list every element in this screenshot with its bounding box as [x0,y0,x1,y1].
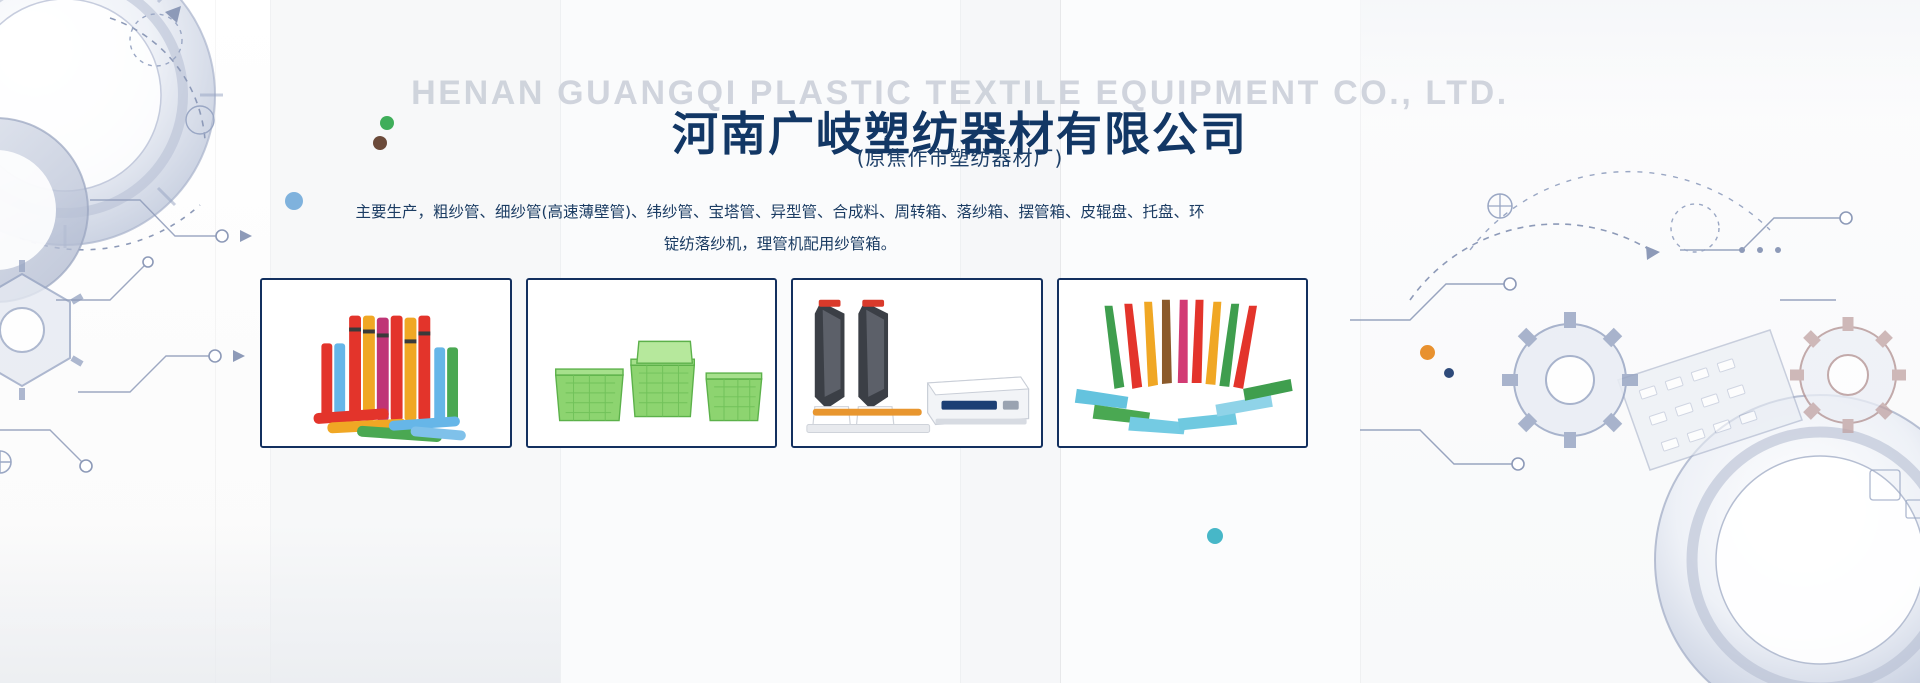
green-crates-photo [528,280,775,448]
company-banner: HENAN GUANGQI PLASTIC TEXTILE EQUIPMENT … [0,0,1920,683]
product-gallery: 粗纱管 / 细纱管 [260,278,1308,448]
company-former-name: (原焦作市塑纺器材厂) [0,142,1920,171]
product-card-cones[interactable]: 宝塔管 / 异型管 [1057,278,1309,448]
yarn-tubes-photo [262,280,509,448]
product-card-crates[interactable]: 周转箱 [526,278,778,448]
product-card-yarn-tubes[interactable]: 粗纱管 / 细纱管 [260,278,512,448]
accent-dot-orange [1420,345,1435,360]
colored-cones-photo [1059,280,1306,448]
accent-dot-teal [1207,528,1223,544]
accent-dot-navy [1444,368,1454,378]
company-description: 主要生产，粗纱管、细纱管(高速薄壁管)、纬纱管、宝塔管、异型管、合成料、周转箱、… [350,196,1210,260]
background-gradient-band [0,523,560,683]
machinery-photo [793,280,1040,448]
accent-dot-blue [285,192,303,210]
product-card-machinery[interactable]: 落纱机 / 理管机 [791,278,1043,448]
